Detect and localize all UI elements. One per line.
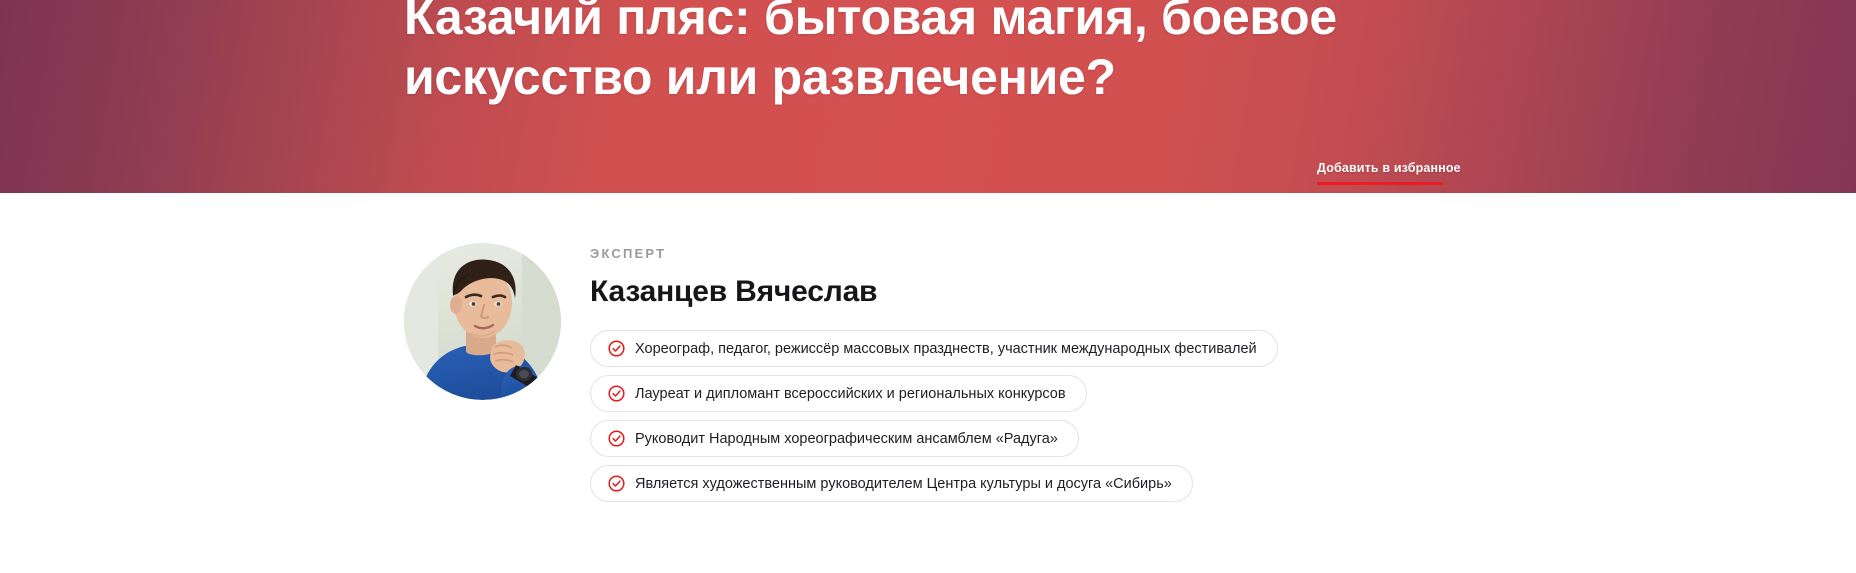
expert-kicker: ЭКСПЕРТ: [590, 246, 1770, 262]
expert-info: ЭКСПЕРТ Казанцев Вячеслав Хореограф, пед…: [590, 246, 1770, 502]
hero-banner: Казачий пляс: бытовая магия, боевое иску…: [0, 0, 1856, 193]
credential-text: Руководит Народным хореографическим анса…: [635, 430, 1058, 448]
add-to-favorites-button[interactable]: Добавить в избранное: [1317, 160, 1461, 185]
credential-text: Является художественным руководителем Це…: [635, 475, 1172, 493]
page-title: Казачий пляс: бытовая магия, боевое иску…: [404, 0, 1504, 107]
expert-credentials-list: Хореограф, педагог, режиссёр массовых пр…: [590, 330, 1770, 502]
check-circle-icon: [608, 340, 625, 357]
add-to-favorites-underline: [1317, 182, 1443, 185]
expert-name: Казанцев Вячеслав: [590, 274, 1770, 310]
credential-text: Лауреат и дипломант всероссийских и реги…: [635, 385, 1066, 403]
check-circle-icon: [608, 475, 625, 492]
expert-avatar: [404, 243, 561, 400]
credential-chip: Руководит Народным хореографическим анса…: [590, 420, 1079, 457]
expert-section: ЭКСПЕРТ Казанцев Вячеслав Хореограф, пед…: [0, 193, 1856, 573]
credential-chip: Лауреат и дипломант всероссийских и реги…: [590, 375, 1087, 412]
check-circle-icon: [608, 385, 625, 402]
credential-text: Хореограф, педагог, режиссёр массовых пр…: [635, 340, 1257, 358]
page-title-line-2: искусство или развлечение?: [404, 47, 1504, 107]
credential-chip: Является художественным руководителем Це…: [590, 465, 1193, 502]
check-circle-icon: [608, 430, 625, 447]
page-title-line-1: Казачий пляс: бытовая магия, боевое: [404, 0, 1504, 47]
page-root: Казачий пляс: бытовая магия, боевое иску…: [0, 0, 1856, 573]
credential-chip: Хореограф, педагог, режиссёр массовых пр…: [590, 330, 1278, 367]
add-to-favorites-label: Добавить в избранное: [1317, 160, 1461, 176]
